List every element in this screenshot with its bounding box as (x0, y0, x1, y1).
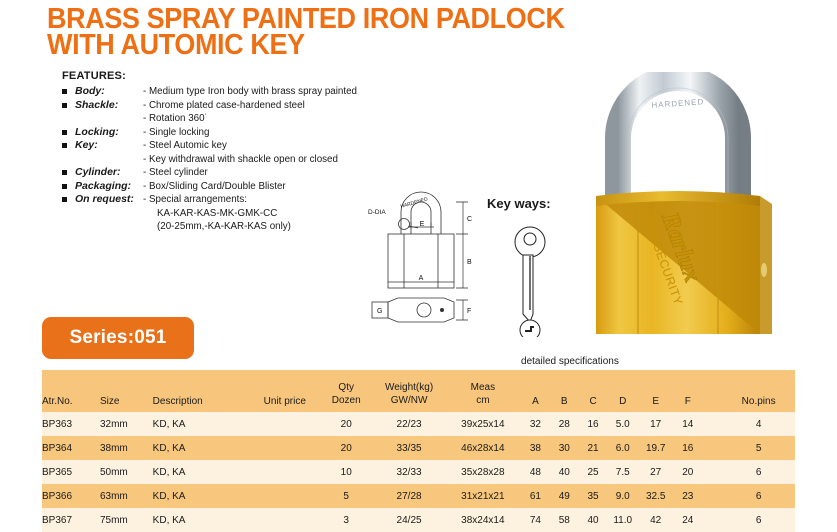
cell-size: 63mm (100, 484, 153, 508)
product-spec-sheet: BRASS SPRAY PAINTED IRON PADLOCK WITH AU… (0, 0, 837, 522)
cell-spacer (702, 484, 722, 508)
cell-d: 6.0 (607, 436, 638, 460)
cell-qty: 20 (319, 436, 374, 460)
feature-desc: - Steel cylinder (143, 166, 208, 180)
table-row: BP367 75mm KD, KA 3 24/25 38x24x14 74 58… (42, 508, 795, 532)
dim-label-e: E (420, 221, 425, 228)
cell-a: 61 (521, 484, 550, 508)
cell-spacer (702, 436, 722, 460)
header-meas: Meas cm (445, 370, 521, 412)
cell-weight: 33/35 (373, 436, 444, 460)
header-meas-sub: cm (445, 395, 521, 408)
cell-c: 21 (579, 436, 608, 460)
cell-weight: 22/23 (373, 412, 444, 436)
header-unit-price: Unit price (251, 370, 319, 412)
cell-b: 28 (550, 412, 579, 436)
bullet-square-icon (62, 166, 75, 175)
cell-f: 20 (673, 460, 702, 484)
feature-row-key: Key: - Steel Automic key (62, 139, 392, 153)
cell-pins: 5 (722, 436, 795, 460)
page-title: BRASS SPRAY PAINTED IRON PADLOCK WITH AU… (47, 6, 568, 58)
cell-desc: KD, KA (153, 412, 251, 436)
cell-a: 38 (521, 436, 550, 460)
feature-term: Locking: (75, 126, 143, 140)
cell-atr: BP367 (42, 508, 100, 532)
cell-spacer (702, 508, 722, 532)
cell-qty: 10 (319, 460, 374, 484)
cell-d: 7.5 (607, 460, 638, 484)
cell-size: 75mm (100, 508, 153, 532)
bullet-square-icon (62, 139, 75, 148)
header-no-pins: No.pins (722, 370, 795, 412)
cell-a: 48 (521, 460, 550, 484)
cell-desc: KD, KA (153, 484, 251, 508)
header-description: Description (153, 370, 251, 412)
cell-atr: BP364 (42, 436, 100, 460)
cell-unit (251, 412, 319, 436)
padlock-photo-illustration: HARDENED Rarlux TOP SECURITY (582, 72, 832, 334)
feature-row-body: Body: - Medium type Iron body with brass… (62, 85, 392, 99)
feature-extra-rotation: - Rotation 360˙ (62, 112, 392, 126)
feature-desc: - Chrome plated case-hardened steel (143, 99, 305, 113)
cell-desc: KD, KA (153, 436, 251, 460)
cell-meas: 35x28x28 (445, 460, 521, 484)
cell-pins: 6 (722, 460, 795, 484)
cell-c: 16 (579, 412, 608, 436)
cell-c: 35 (579, 484, 608, 508)
cell-c: 40 (579, 508, 608, 532)
cell-meas: 39x25x14 (445, 412, 521, 436)
key-illustration (500, 222, 560, 337)
feature-term: On request: (75, 193, 143, 207)
cell-d: 5.0 (607, 412, 638, 436)
cell-weight: 24/25 (373, 508, 444, 532)
cell-c: 25 (579, 460, 608, 484)
cell-atr: BP363 (42, 412, 100, 436)
header-spec-b: B (550, 370, 579, 412)
header-weight-sub: GW/NW (373, 395, 444, 408)
feature-request-line-1: KA-KAR-KAS-MK-GMK-CC (62, 207, 392, 221)
cell-atr: BP366 (42, 484, 100, 508)
title-line-2: WITH AUTOMIC KEY (47, 32, 568, 58)
bullet-square-icon (62, 193, 75, 202)
header-qty-sub: Dozen (319, 395, 374, 408)
cell-meas: 46x28x14 (445, 436, 521, 460)
header-spec-f: F (673, 370, 702, 412)
bullet-square-icon (62, 126, 75, 135)
cell-size: 32mm (100, 412, 153, 436)
header-spec-a: detailed specifications A (521, 370, 550, 412)
cell-unit (251, 460, 319, 484)
table-row: BP363 32mm KD, KA 20 22/23 39x25x14 32 2… (42, 412, 795, 436)
cell-b: 30 (550, 436, 579, 460)
header-qty-top: Qty (319, 382, 374, 395)
table-row: BP364 38mm KD, KA 20 33/35 46x28x14 38 3… (42, 436, 795, 460)
cell-qty: 5 (319, 484, 374, 508)
cell-e: 42 (638, 508, 673, 532)
feature-desc: - Medium type Iron body with brass spray… (143, 85, 357, 99)
feature-desc: - Special arrangements: (143, 193, 247, 207)
feature-desc: - Box/Sliding Card/Double Blister (143, 180, 286, 194)
cell-a: 32 (521, 412, 550, 436)
feature-row-shackle: Shackle: - Chrome plated case-hardened s… (62, 99, 392, 113)
cell-a: 74 (521, 508, 550, 532)
cell-unit (251, 508, 319, 532)
header-spec-d: D (607, 370, 638, 412)
feature-row-locking: Locking: - Single locking (62, 126, 392, 140)
cell-spacer (702, 460, 722, 484)
features-heading: FEATURES: (62, 70, 392, 82)
feature-term: Key: (75, 139, 143, 153)
dim-label-hardened: HARDENED (400, 196, 429, 210)
feature-request-line-2: (20-25mm,-KA-KAR-KAS only) (62, 220, 392, 234)
dim-label-g: G (377, 308, 382, 315)
header-spec-a-label: A (532, 396, 539, 407)
feature-row-on-request: On request: - Special arrangements: (62, 193, 392, 207)
cell-qty: 3 (319, 508, 374, 532)
header-atr-no: Atr.No. (42, 370, 100, 412)
cell-e: 27 (638, 460, 673, 484)
cell-b: 40 (550, 460, 579, 484)
cell-size: 50mm (100, 460, 153, 484)
table-row: BP366 63mm KD, KA 5 27/28 31x21x21 61 49… (42, 484, 795, 508)
table-header: Atr.No. Size Description Unit price Qty … (42, 370, 795, 412)
bullet-square-icon (62, 99, 75, 108)
dim-label-a: A (419, 275, 424, 282)
header-size: Size (100, 370, 153, 412)
cell-desc: KD, KA (153, 460, 251, 484)
feature-term: Packaging: (75, 180, 143, 194)
cell-e: 32.5 (638, 484, 673, 508)
feature-term: Body: (75, 85, 143, 99)
specification-table: Atr.No. Size Description Unit price Qty … (42, 370, 795, 532)
cell-desc: KD, KA (153, 508, 251, 532)
cell-f: 16 (673, 436, 702, 460)
product-photo: HARDENED Rarlux TOP SECURITY (582, 72, 832, 334)
cell-qty: 20 (319, 412, 374, 436)
cell-f: 14 (673, 412, 702, 436)
dim-label-c: C (467, 216, 472, 223)
cell-d: 9.0 (607, 484, 638, 508)
cell-weight: 32/33 (373, 460, 444, 484)
shackle-hardened-mark: HARDENED (651, 97, 704, 110)
header-spec-group: detailed specifications (521, 356, 550, 367)
cell-d: 11.0 (607, 508, 638, 532)
cell-f: 23 (673, 484, 702, 508)
table-row: BP365 50mm KD, KA 10 32/33 35x28x28 48 4… (42, 460, 795, 484)
header-weight-top: Weight(kg) (373, 382, 444, 395)
series-badge: Series:051 (42, 317, 194, 359)
cell-unit (251, 484, 319, 508)
table-body: BP363 32mm KD, KA 20 22/23 39x25x14 32 2… (42, 412, 795, 532)
dim-label-b: B (467, 259, 472, 266)
table-header-row: Atr.No. Size Description Unit price Qty … (42, 370, 795, 412)
cell-unit (251, 436, 319, 460)
cell-e: 17 (638, 412, 673, 436)
feature-extra-key-withdrawal: - Key withdrawal with shackle open or cl… (62, 153, 392, 167)
feature-row-packaging: Packaging: - Box/Sliding Card/Double Bli… (62, 180, 392, 194)
cell-meas: 38x24x14 (445, 508, 521, 532)
bullet-square-icon (62, 180, 75, 189)
header-spec-e: E (638, 370, 673, 412)
cell-spacer (702, 412, 722, 436)
cell-pins: 6 (722, 484, 795, 508)
feature-term: Shackle: (75, 99, 143, 113)
header-weight: Weight(kg) GW/NW (373, 370, 444, 412)
header-spacer (702, 370, 722, 412)
header-meas-top: Meas (445, 382, 521, 395)
cell-b: 58 (550, 508, 579, 532)
features-section: FEATURES: Body: - Medium type Iron body … (62, 70, 392, 234)
dim-label-f: F (467, 308, 471, 315)
cell-meas: 31x21x21 (445, 484, 521, 508)
cell-pins: 4 (722, 412, 795, 436)
cell-b: 49 (550, 484, 579, 508)
cell-e: 19.7 (638, 436, 673, 460)
cell-atr: BP365 (42, 460, 100, 484)
dim-label-d-dia: D-DIA (368, 209, 386, 216)
cell-size: 38mm (100, 436, 153, 460)
header-spec-c: C (579, 370, 608, 412)
bullet-square-icon (62, 85, 75, 94)
feature-term: Cylinder: (75, 166, 143, 180)
cell-weight: 27/28 (373, 484, 444, 508)
cell-pins: 6 (722, 508, 795, 532)
keyways-label: Key ways: (487, 196, 551, 211)
feature-desc: - Steel Automic key (143, 139, 227, 153)
feature-desc: - Single locking (143, 126, 209, 140)
feature-row-cylinder: Cylinder: - Steel cylinder (62, 166, 392, 180)
series-label: Series:051 (69, 327, 166, 349)
header-qty: Qty Dozen (319, 370, 374, 412)
cell-f: 24 (673, 508, 702, 532)
